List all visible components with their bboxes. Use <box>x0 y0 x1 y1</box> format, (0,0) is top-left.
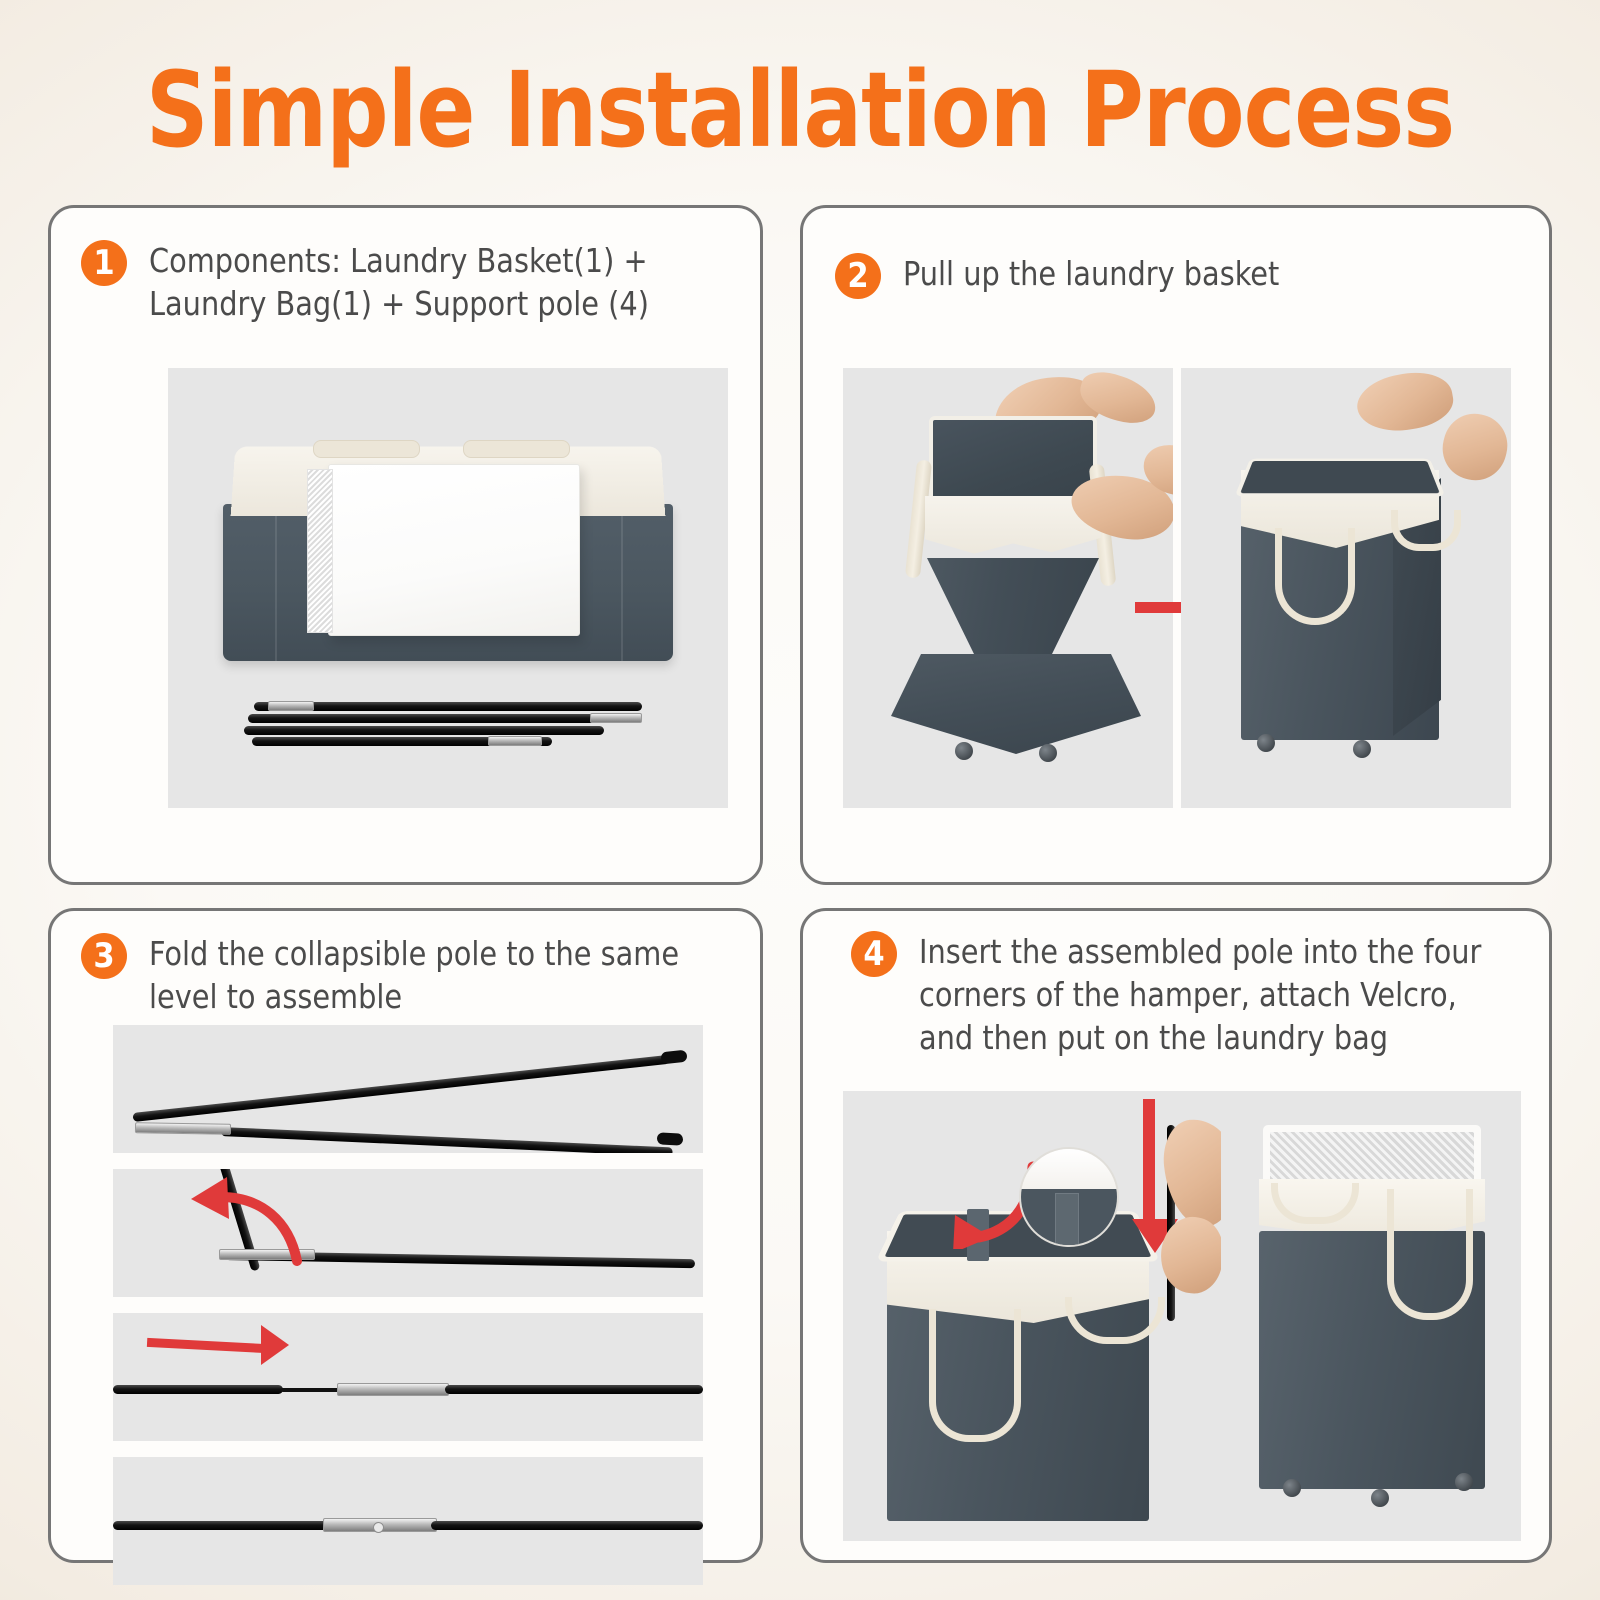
folded-hamper <box>223 446 673 661</box>
hand-top <box>1353 368 1457 438</box>
step-1-header: 1 Components: Laundry Basket(1) + Laundr… <box>81 240 731 326</box>
photo-finished-hamper-with-laundry-bag <box>1221 1091 1521 1541</box>
support-poles-bundle <box>238 698 658 748</box>
step-1-badge: 1 <box>81 240 127 286</box>
hamper-rim <box>1235 459 1446 497</box>
step-4-header: 4 Insert the assembled pole into the fou… <box>851 931 1531 1060</box>
step-3-text: Fold the collapsible pole to the same le… <box>149 933 714 1019</box>
hamper-handle-front <box>1275 528 1355 625</box>
step-3-badge: 3 <box>81 933 127 979</box>
upright-hamper <box>1241 440 1439 740</box>
mesh-bag-edge <box>307 469 333 633</box>
photo-inserting-pole-into-corner <box>843 1091 1233 1541</box>
hamper-folded-base <box>891 654 1141 754</box>
hamper-open-rim <box>929 416 1097 502</box>
hand-side <box>1436 407 1511 487</box>
photo-pole-rotating-into-line <box>113 1169 703 1297</box>
photo-pole-fully-joined <box>113 1457 703 1585</box>
step-panel-4: 4 Insert the assembled pole into the fou… <box>800 908 1552 1563</box>
step-4-badge: 4 <box>851 931 897 977</box>
curved-arrow-icon <box>169 1175 329 1271</box>
hamper-handle-right <box>463 440 570 458</box>
step-2-text: Pull up the laundry basket <box>903 253 1279 296</box>
velcro-detail-inset <box>1021 1149 1117 1245</box>
infographic-page: Simple Installation Process 1 Components… <box>0 0 1600 1600</box>
step-panel-3: 3 Fold the collapsible pole to the same … <box>48 908 763 1563</box>
mesh-laundry-bag <box>328 464 580 636</box>
step-panel-2: 2 Pull up the laundry basket <box>800 205 1552 885</box>
step-4-text: Insert the assembled pole into the four … <box>919 931 1513 1060</box>
step-panel-1: 1 Components: Laundry Basket(1) + Laundr… <box>48 205 763 885</box>
photo-pole-sliding-into-ferrule <box>113 1313 703 1441</box>
step-2-badge: 2 <box>835 253 881 299</box>
hamper-handle-left <box>313 440 420 458</box>
step-1-text: Components: Laundry Basket(1) + Laundry … <box>149 240 714 326</box>
photo-folded-hamper-and-poles <box>168 368 728 808</box>
hamper-handle-side <box>1391 510 1461 551</box>
page-title: Simple Installation Process <box>56 58 1544 162</box>
step-3-header: 3 Fold the collapsible pole to the same … <box>81 933 731 1019</box>
photo-assembled-upright-hamper <box>1181 368 1511 808</box>
photo-pole-folded-v-shape <box>113 1025 703 1153</box>
photo-hands-pulling-up-collapsed-hamper <box>843 368 1173 808</box>
step-2-header: 2 Pull up the laundry basket <box>835 253 1515 299</box>
hamper-handle-front <box>1387 1189 1473 1320</box>
hamper-handle-front <box>929 1309 1021 1442</box>
